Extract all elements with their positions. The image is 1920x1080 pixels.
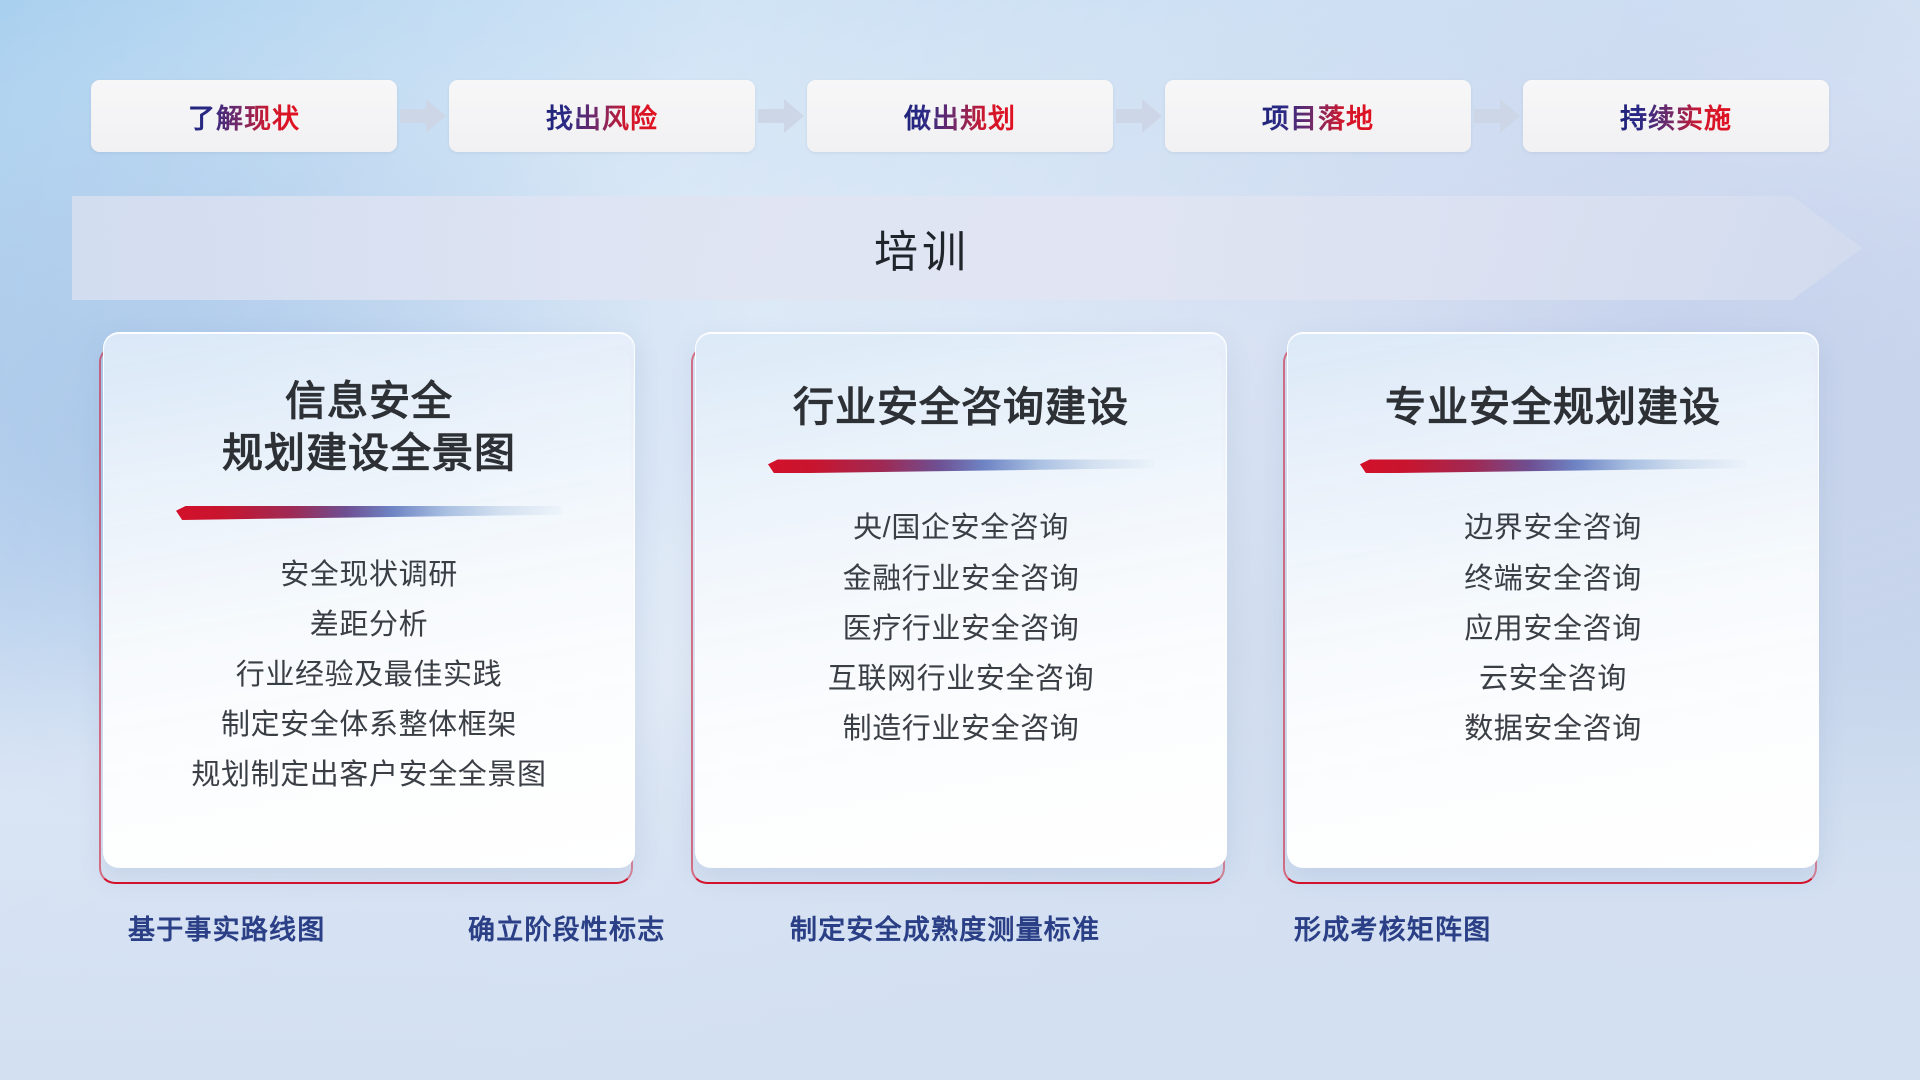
card-1-title: 信息安全 规划建设全景图 bbox=[196, 375, 542, 480]
card-2-title-line-1: 行业安全咨询建设 bbox=[793, 381, 1129, 433]
process-step-3-label: 做出规划 bbox=[904, 97, 1016, 136]
card-3-list: 边界安全咨询 终端安全咨询 应用安全咨询 云安全咨询 数据安全咨询 bbox=[1288, 507, 1818, 749]
process-step-5-label: 持续实施 bbox=[1620, 97, 1732, 136]
process-step-1[interactable]: 了解现状 bbox=[91, 80, 397, 152]
card-slot-3: 专业安全规划建设 边界安全咨询 终端安全咨询 应用安全咨询 云安全咨询 数据安全… bbox=[1287, 332, 1817, 880]
footnote-roadmap: 基于事实路线图 bbox=[128, 908, 325, 947]
list-item: 制造行业安全咨询 bbox=[843, 708, 1080, 750]
list-item: 央/国企安全咨询 bbox=[853, 507, 1069, 549]
process-step-1-label: 了解现状 bbox=[188, 97, 300, 136]
arrow-right-icon bbox=[1471, 80, 1523, 152]
list-item: 应用安全咨询 bbox=[1464, 608, 1642, 650]
process-step-2[interactable]: 找出风险 bbox=[449, 80, 755, 152]
card-slot-1: 信息安全 规划建设全景图 安全现状调研 差距分析 行业经验及最佳实践 制定安全体… bbox=[103, 332, 633, 880]
process-step-4-label: 项目落地 bbox=[1262, 97, 1374, 136]
card-1-title-line-1: 信息安全 bbox=[222, 375, 516, 427]
card-3-divider-bar bbox=[1360, 459, 1746, 473]
card-row: 信息安全 规划建设全景图 安全现状调研 差距分析 行业经验及最佳实践 制定安全体… bbox=[0, 332, 1920, 882]
arrow-right-icon bbox=[755, 80, 807, 152]
list-item: 差距分析 bbox=[310, 604, 428, 646]
card-2-list: 央/国企安全咨询 金融行业安全咨询 医疗行业安全咨询 互联网行业安全咨询 制造行… bbox=[696, 507, 1226, 749]
card-professional-security-planning[interactable]: 专业安全规划建设 边界安全咨询 终端安全咨询 应用安全咨询 云安全咨询 数据安全… bbox=[1287, 332, 1819, 868]
card-slot-2: 行业安全咨询建设 央/国企安全咨询 金融行业安全咨询 医疗行业安全咨询 互联网行… bbox=[695, 332, 1225, 880]
footnote-assessment-matrix: 形成考核矩阵图 bbox=[1294, 908, 1491, 947]
arrow-right-icon bbox=[397, 80, 449, 152]
card-industry-security-consulting[interactable]: 行业安全咨询建设 央/国企安全咨询 金融行业安全咨询 医疗行业安全咨询 互联网行… bbox=[695, 332, 1227, 868]
card-3-divider bbox=[1360, 459, 1746, 473]
card-information-security-panorama[interactable]: 信息安全 规划建设全景图 安全现状调研 差距分析 行业经验及最佳实践 制定安全体… bbox=[103, 332, 635, 868]
list-item: 数据安全咨询 bbox=[1464, 708, 1642, 750]
card-1-divider bbox=[176, 506, 562, 520]
footnote-maturity-standard: 制定安全成熟度测量标准 bbox=[790, 908, 1100, 947]
training-banner: 培训 bbox=[72, 196, 1862, 300]
process-flow-strip: 了解现状 找出风险 做出规划 项目落地 持续实施 bbox=[0, 78, 1920, 154]
list-item: 终端安全咨询 bbox=[1464, 558, 1642, 600]
list-item: 云安全咨询 bbox=[1479, 658, 1627, 700]
list-item: 行业经验及最佳实践 bbox=[236, 654, 502, 696]
footnote-row: 基于事实路线图 确立阶段性标志 制定安全成熟度测量标准 形成考核矩阵图 bbox=[0, 908, 1920, 954]
list-item: 互联网行业安全咨询 bbox=[828, 658, 1094, 700]
list-item: 规划制定出客户安全全景图 bbox=[191, 754, 546, 796]
card-2-divider-bar bbox=[768, 459, 1154, 473]
card-2-divider bbox=[768, 459, 1154, 473]
process-step-4[interactable]: 项目落地 bbox=[1165, 80, 1471, 152]
footnote-milestones: 确立阶段性标志 bbox=[468, 908, 665, 947]
list-item: 边界安全咨询 bbox=[1464, 507, 1642, 549]
process-step-3[interactable]: 做出规划 bbox=[807, 80, 1113, 152]
card-1-divider-bar bbox=[176, 506, 562, 520]
card-2-title: 行业安全咨询建设 bbox=[767, 381, 1155, 433]
card-3-title: 专业安全规划建设 bbox=[1359, 381, 1747, 433]
card-1-title-line-2: 规划建设全景图 bbox=[222, 427, 516, 479]
list-item: 金融行业安全咨询 bbox=[843, 558, 1080, 600]
card-3-title-line-1: 专业安全规划建设 bbox=[1385, 381, 1721, 433]
list-item: 安全现状调研 bbox=[280, 554, 458, 596]
process-step-5[interactable]: 持续实施 bbox=[1523, 80, 1829, 152]
card-1-list: 安全现状调研 差距分析 行业经验及最佳实践 制定安全体系整体框架 规划制定出客户… bbox=[104, 554, 634, 796]
banner-label: 培训 bbox=[72, 196, 1862, 300]
list-item: 医疗行业安全咨询 bbox=[843, 608, 1080, 650]
arrow-right-icon bbox=[1113, 80, 1165, 152]
process-step-2-label: 找出风险 bbox=[546, 97, 658, 136]
list-item: 制定安全体系整体框架 bbox=[221, 704, 517, 746]
